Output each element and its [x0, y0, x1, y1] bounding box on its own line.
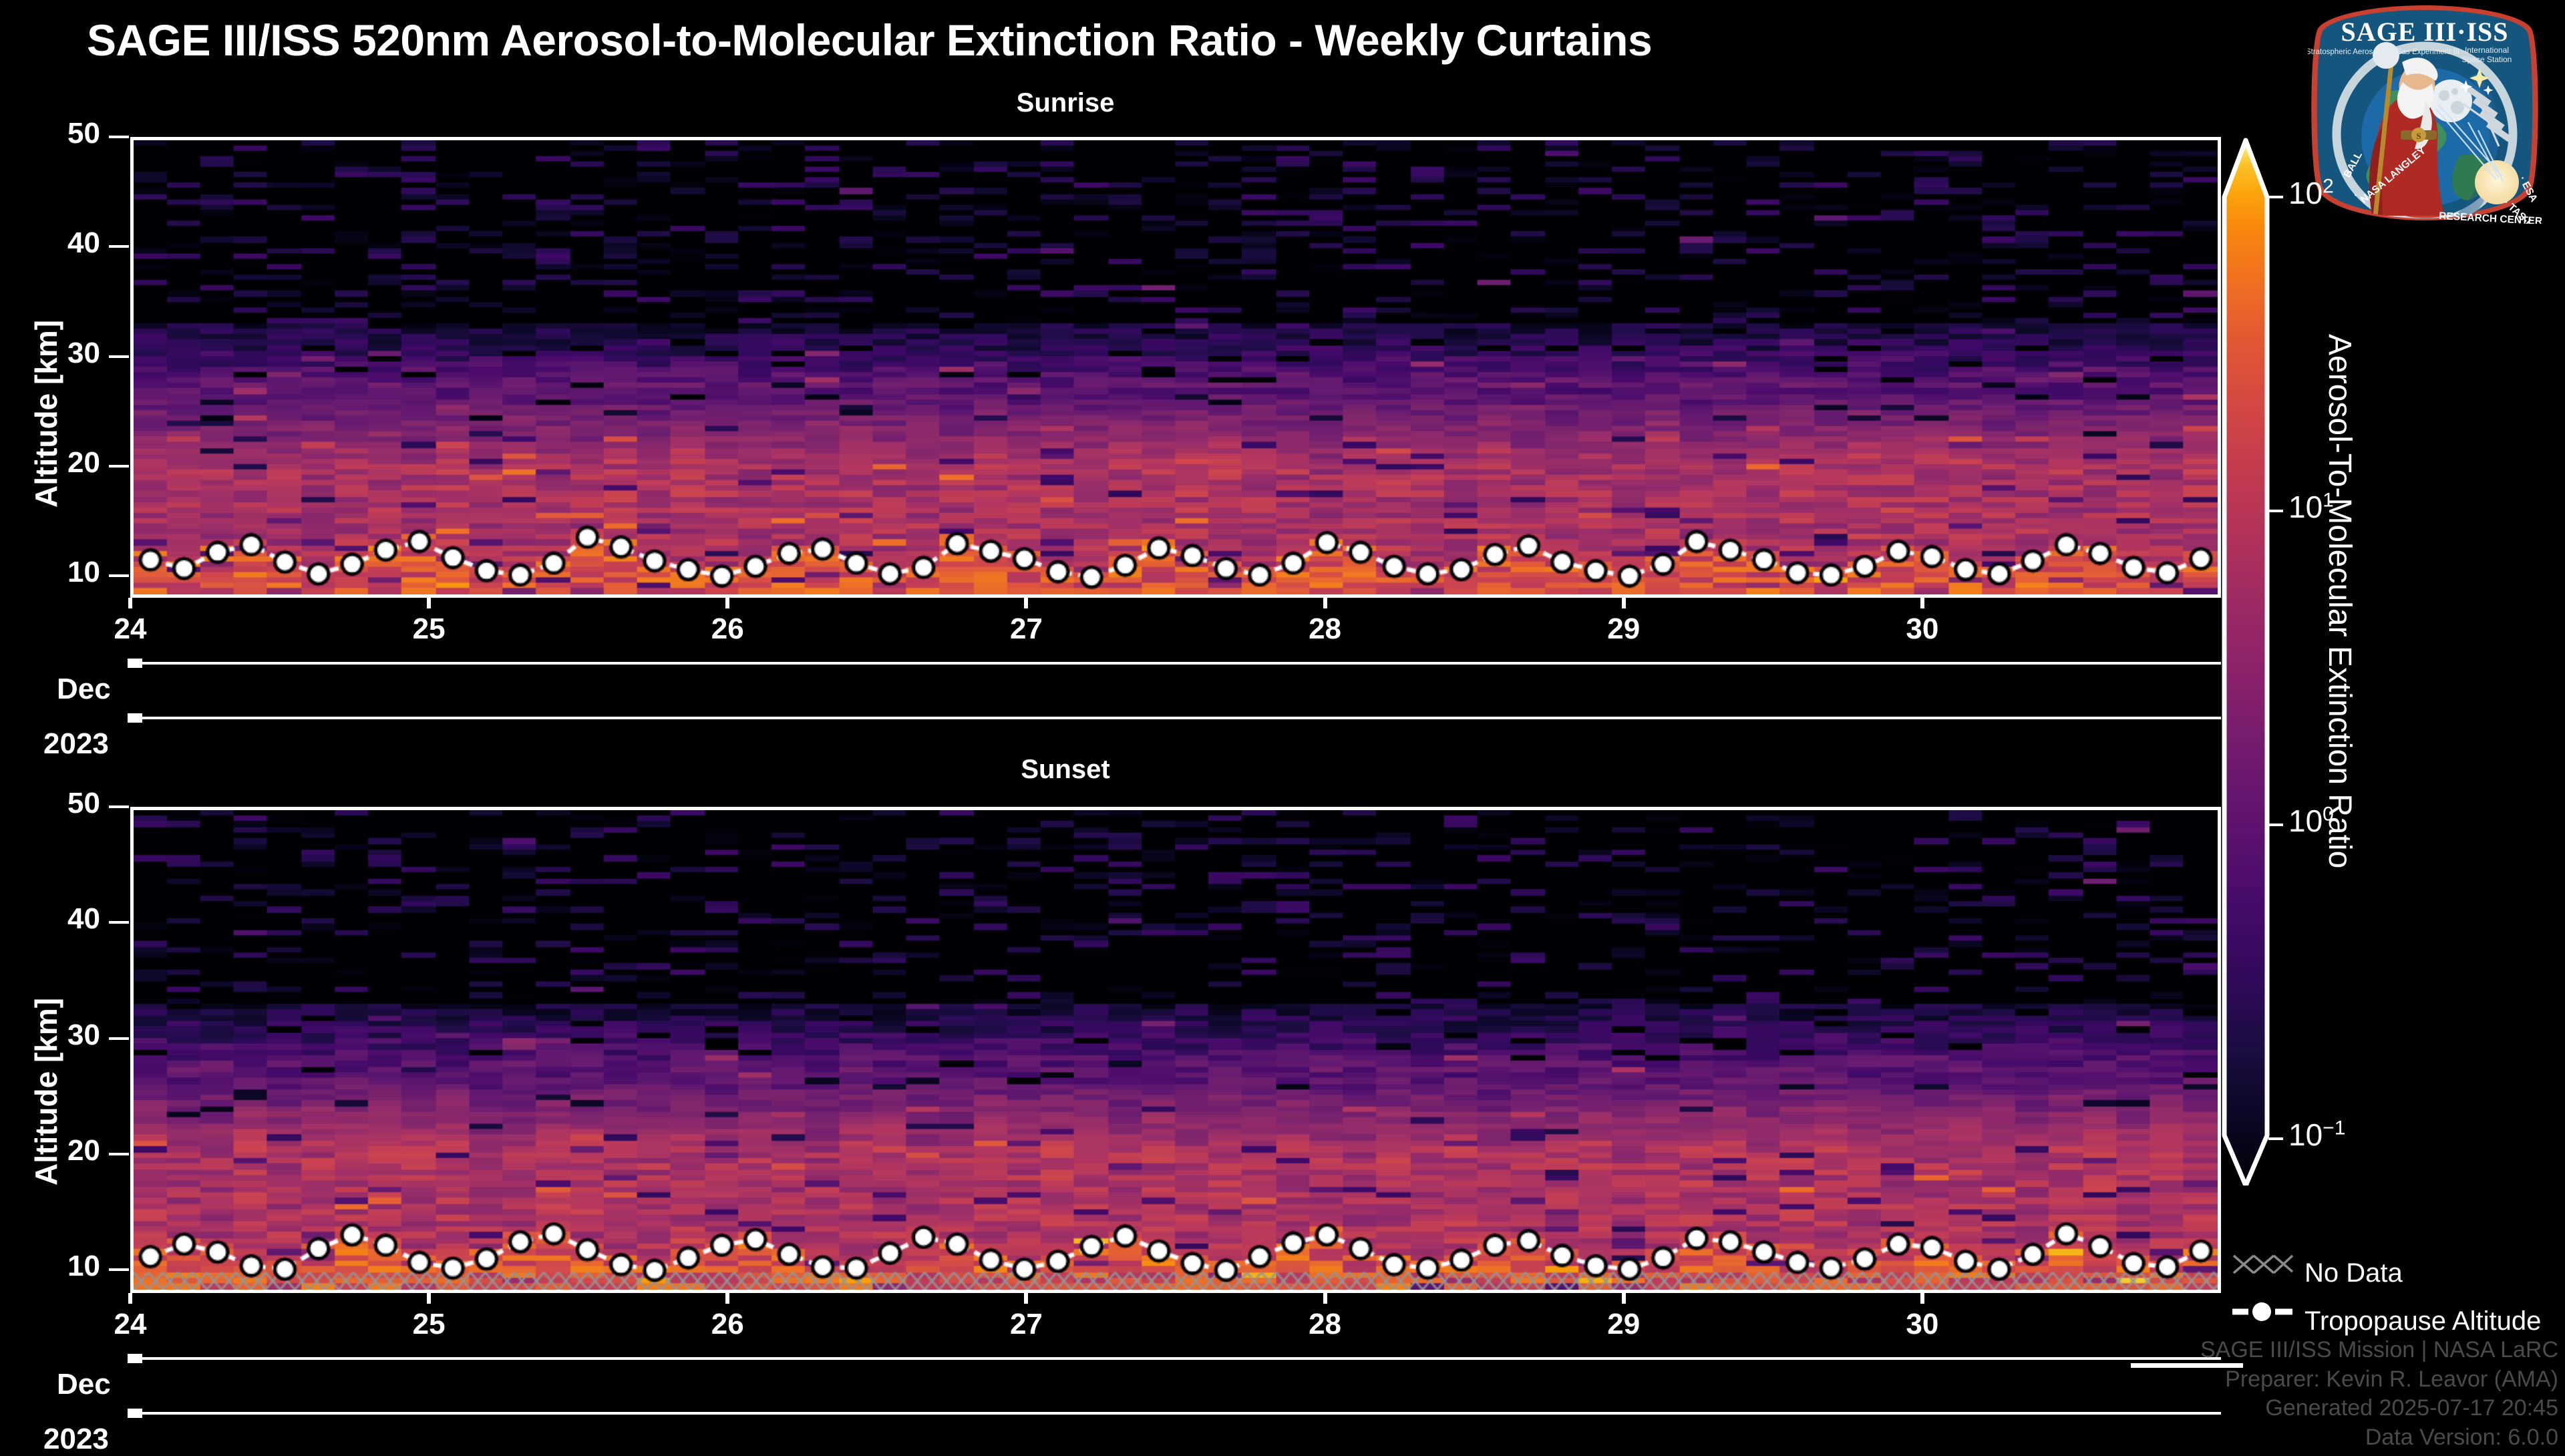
- x-axis-year-label: 2023: [43, 727, 109, 761]
- colorbar-tick-mark-1: [2268, 510, 2283, 512]
- x-tick-label-28: 28: [1278, 1308, 1372, 1341]
- x-tick-mark-26: [725, 1293, 729, 1304]
- x-axis-month-rule: [130, 1357, 2221, 1360]
- x-tick-label-25: 25: [382, 1308, 476, 1341]
- footer-credits: SAGE III/ISS Mission | NASA LaRC Prepare…: [2200, 1336, 2558, 1452]
- x-tick-mark-29: [1622, 598, 1626, 608]
- panel-title-sunrise: Sunrise: [798, 88, 1333, 118]
- x-tick-mark-24: [128, 598, 132, 608]
- legend-label-tropopause: Tropopause Altitude: [2304, 1306, 2541, 1336]
- x-tick-label-29: 29: [1577, 1308, 1671, 1341]
- x-tick-mark-28: [1323, 598, 1327, 608]
- svg-text:Space Station: Space Station: [2462, 55, 2512, 64]
- x-tick-label-24: 24: [83, 1308, 177, 1341]
- x-tick-mark-29: [1622, 1293, 1626, 1304]
- x-axis-month-tick: [128, 1354, 142, 1363]
- svg-text:Stratospheric Aerosol and Gas: Stratospheric Aerosol and Gas Experiment…: [2308, 48, 2459, 56]
- legend-label-no-data: No Data: [2304, 1258, 2403, 1288]
- colorbar-tick-mark-0: [2268, 196, 2283, 198]
- footer-line-version: Data Version: 6.0.0: [2200, 1423, 2558, 1453]
- x-tick-mark-28: [1323, 1293, 1327, 1304]
- footer-line-mission: SAGE III/ISS Mission | NASA LaRC: [2200, 1336, 2558, 1365]
- x-tick-label-30: 30: [1876, 1308, 1969, 1341]
- colorbar-tick-mark-3: [2268, 1137, 2283, 1140]
- x-tick-label-27: 27: [979, 1308, 1073, 1341]
- x-tick-label-28: 28: [1278, 612, 1372, 646]
- colorbar[interactable]: 10210110010−1: [2224, 194, 2267, 1162]
- x-tick-mark-25: [427, 1293, 431, 1304]
- svg-text:S: S: [2416, 131, 2421, 141]
- y-tick-label-30: 30: [13, 1019, 100, 1052]
- y-tick-mark-10: [109, 1268, 129, 1271]
- y-tick-mark-50: [109, 805, 129, 808]
- x-axis-year-tick: [128, 713, 142, 723]
- x-tick-mark-30: [1920, 598, 1924, 608]
- y-tick-mark-30: [109, 355, 129, 358]
- x-tick-mark-27: [1024, 598, 1028, 608]
- y-tick-label-20: 20: [13, 446, 100, 480]
- y-tick-label-10: 10: [13, 1250, 100, 1283]
- footer-line-preparer: Preparer: Kevin R. Leavor (AMA): [2200, 1365, 2558, 1395]
- x-axis-month-tick: [128, 659, 142, 668]
- y-tick-mark-30: [109, 1037, 129, 1040]
- panel-title-sunset: Sunset: [798, 755, 1333, 785]
- colorbar-tick-label-0: 102: [2288, 175, 2334, 211]
- x-tick-mark-26: [725, 598, 729, 608]
- y-tick-label-10: 10: [13, 556, 100, 589]
- y-tick-mark-20: [109, 465, 129, 468]
- tropopause-line-icon: [2231, 1298, 2295, 1325]
- x-tick-mark-24: [128, 1293, 132, 1304]
- x-axis-year-tick: [128, 1409, 142, 1418]
- footer-line-generated: Generated 2025-07-17 20:45: [2200, 1394, 2558, 1423]
- x-tick-mark-30: [1920, 1293, 1924, 1304]
- y-tick-mark-10: [109, 574, 129, 577]
- y-tick-mark-40: [109, 921, 129, 924]
- y-tick-mark-40: [109, 245, 129, 248]
- svg-text:SAGE III·ISS: SAGE III·ISS: [2341, 17, 2508, 47]
- x-tick-label-26: 26: [681, 1308, 774, 1341]
- x-tick-label-30: 30: [1876, 612, 1969, 646]
- y-tick-label-40: 40: [13, 902, 100, 936]
- x-axis-month-label: Dec: [57, 673, 111, 706]
- y-tick-mark-50: [109, 136, 129, 138]
- x-axis-year-label: 2023: [43, 1423, 109, 1456]
- x-tick-label-29: 29: [1577, 612, 1671, 646]
- x-tick-label-24: 24: [83, 612, 177, 646]
- x-axis-month-rule: [130, 662, 2221, 665]
- heatmap-panel-sunset[interactable]: [130, 807, 2221, 1293]
- x-tick-mark-27: [1024, 1293, 1028, 1304]
- x-tick-label-25: 25: [382, 612, 476, 646]
- x-axis-year-rule: [130, 1412, 2221, 1415]
- x-tick-label-26: 26: [681, 612, 774, 646]
- svg-text:International: International: [2465, 45, 2509, 55]
- y-tick-label-30: 30: [13, 337, 100, 370]
- x-axis-year-rule: [130, 717, 2221, 719]
- heatmap-panel-sunrise[interactable]: [130, 137, 2221, 598]
- x-tick-label-27: 27: [979, 612, 1073, 646]
- y-tick-label-20: 20: [13, 1134, 100, 1167]
- colorbar-label: Aerosol-To-Molecular Extinction Ratio: [2321, 334, 2358, 868]
- colorbar-tick-label-3: 10−1: [2288, 1117, 2345, 1153]
- no-data-hatch-icon: [2231, 1250, 2295, 1277]
- y-tick-mark-20: [109, 1153, 129, 1155]
- x-tick-mark-25: [427, 598, 431, 608]
- colorbar-tick-mark-2: [2268, 824, 2283, 826]
- y-tick-label-40: 40: [13, 226, 100, 260]
- sage-iii-iss-mission-patch-logo: S BALL · NASA LANGLEY RESEARCH CENTER · …: [2308, 3, 2542, 224]
- page-title: SAGE III/ISS 520nm Aerosol-to-Molecular …: [87, 15, 2224, 65]
- y-tick-label-50: 50: [13, 117, 100, 150]
- y-tick-label-50: 50: [13, 787, 100, 820]
- x-axis-month-label: Dec: [57, 1368, 111, 1401]
